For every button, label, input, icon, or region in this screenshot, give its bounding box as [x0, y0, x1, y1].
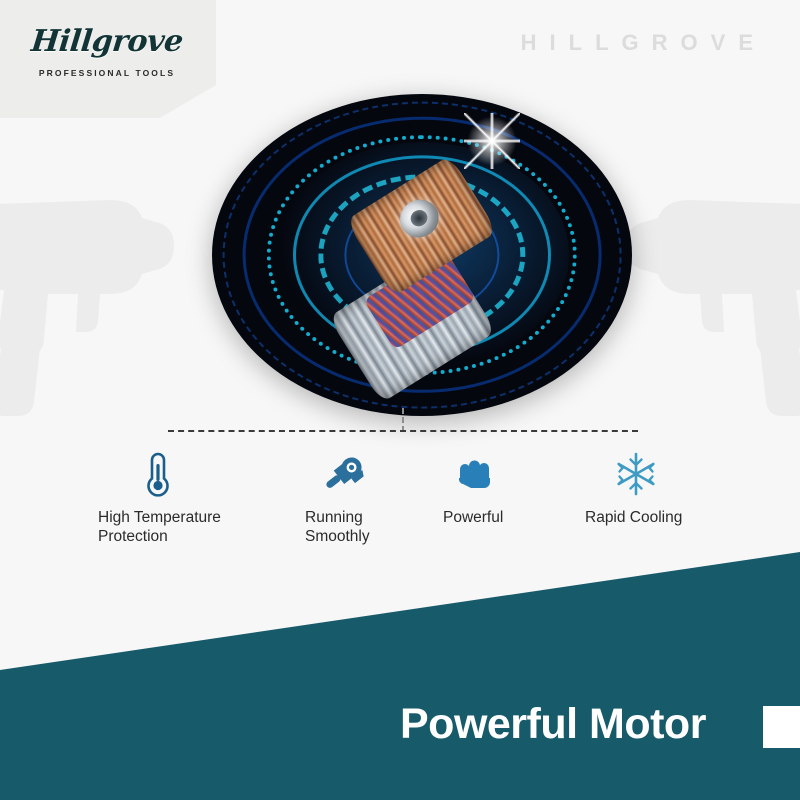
snowflake-icon — [585, 448, 682, 500]
connector-tick — [402, 408, 404, 432]
banner-headline: Powerful Motor — [400, 700, 706, 749]
hero-motor-image — [212, 94, 632, 416]
ghost-drill-left-icon — [0, 170, 190, 420]
brand-logo-tag: Hillgrove PROFESSIONAL TOOLS — [0, 0, 216, 118]
feature-label: Running Smoothly — [305, 508, 370, 546]
feature-item-running-smoothly: Running Smoothly — [305, 448, 370, 546]
brand-tagline: PROFESSIONAL TOOLS — [22, 68, 192, 78]
feature-item-high-temperature-protection: High Temperature Protection — [98, 448, 221, 546]
feature-label: High Temperature Protection — [98, 508, 221, 546]
banner-accent-block — [763, 706, 800, 748]
feature-label: Rapid Cooling — [585, 508, 682, 527]
feature-item-powerful: Powerful — [443, 448, 503, 527]
thermometer-icon — [98, 448, 221, 500]
feature-row: High Temperature Protection Running Smoo… — [0, 448, 800, 568]
product-feature-image: Hillgrove PROFESSIONAL TOOLS HILLGROVE — [0, 0, 800, 800]
angle-grinder-icon — [305, 448, 370, 500]
ghost-drill-right-icon — [610, 170, 800, 420]
sparkle-icon — [464, 113, 520, 169]
feature-label: Powerful — [443, 508, 503, 527]
brand-watermark: HILLGROVE — [521, 30, 766, 56]
connector-line — [168, 430, 638, 432]
feature-item-rapid-cooling: Rapid Cooling — [585, 448, 682, 527]
flexed-muscle-icon — [443, 448, 503, 500]
brand-logo-text: Hillgrove — [20, 24, 194, 59]
